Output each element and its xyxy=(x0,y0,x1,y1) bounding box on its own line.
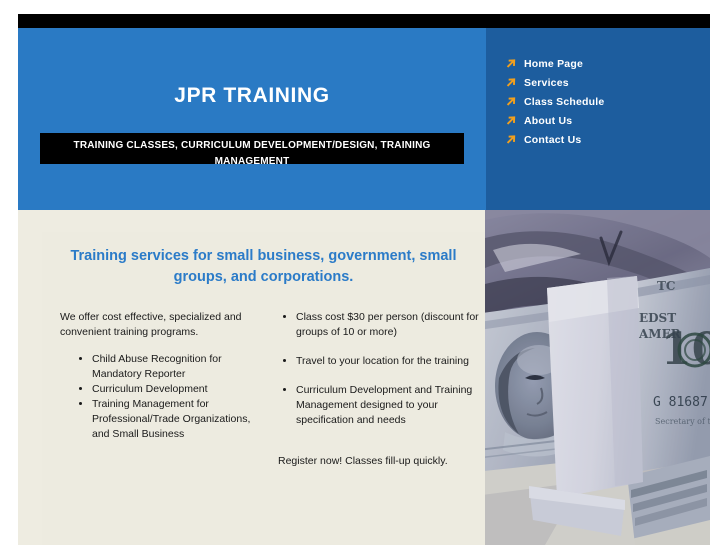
main-navigation: Home Page Services Class Schedule xyxy=(506,54,604,149)
site-header: JPR TRAINING TRAINING CLASSES, CURRICULU… xyxy=(18,28,710,210)
arrow-northeast-icon xyxy=(506,96,517,107)
intro-paragraph: We offer cost effective, specialized and… xyxy=(60,310,260,340)
nav-label: Services xyxy=(524,77,569,89)
nav-label: Home Page xyxy=(524,58,583,70)
arrow-northeast-icon xyxy=(506,77,517,88)
nav-label: Contact Us xyxy=(524,134,581,146)
left-column: We offer cost effective, specialized and… xyxy=(42,310,260,469)
top-black-rule xyxy=(18,14,710,28)
page-root: JPR TRAINING TRAINING CLASSES, CURRICULU… xyxy=(18,14,710,545)
list-item: Travel to your location for the training xyxy=(296,354,485,369)
nav-item-services[interactable]: Services xyxy=(506,73,604,92)
navigation-panel: Home Page Services Class Schedule xyxy=(486,28,710,210)
arrow-northeast-icon xyxy=(506,58,517,69)
nav-item-home-page[interactable]: Home Page xyxy=(506,54,604,73)
tagline-text: TRAINING CLASSES, CURRICULUM DEVELOPMENT… xyxy=(40,138,464,164)
nav-item-contact-us[interactable]: Contact Us xyxy=(506,130,604,149)
list-item: Child Abuse Recognition for Mandatory Re… xyxy=(92,352,260,382)
tagline-banner: TRAINING CLASSES, CURRICULUM DEVELOPMENT… xyxy=(40,133,464,164)
nav-label: About Us xyxy=(524,115,572,127)
site-title: JPR TRAINING xyxy=(18,84,486,108)
list-item: Curriculum Development and Training Mana… xyxy=(296,383,485,428)
services-list: Child Abuse Recognition for Mandatory Re… xyxy=(60,352,260,442)
content-heading: Training services for small business, go… xyxy=(54,246,473,288)
pricing-list: Class cost $30 per person (discount for … xyxy=(278,310,485,428)
nav-item-class-schedule[interactable]: Class Schedule xyxy=(506,92,604,111)
content-columns: We offer cost effective, specialized and… xyxy=(42,310,485,469)
hundred-dollar-bills-photo: 10 G 81687 Secretary of the Treasury EDS… xyxy=(485,210,710,545)
content-card: Training services for small business, go… xyxy=(42,232,485,545)
list-item: Curriculum Development xyxy=(92,382,260,397)
arrow-northeast-icon xyxy=(506,115,517,126)
register-note: Register now! Classes fill-up quickly. xyxy=(278,454,485,469)
arrow-northeast-icon xyxy=(506,134,517,145)
list-item: Class cost $30 per person (discount for … xyxy=(296,310,485,340)
nav-label: Class Schedule xyxy=(524,96,604,108)
right-column: Class cost $30 per person (discount for … xyxy=(260,310,485,469)
page-body: 10 G 81687 Secretary of the Treasury EDS… xyxy=(18,210,710,545)
nav-item-about-us[interactable]: About Us xyxy=(506,111,604,130)
list-item: Training Management for Professional/Tra… xyxy=(92,397,260,442)
